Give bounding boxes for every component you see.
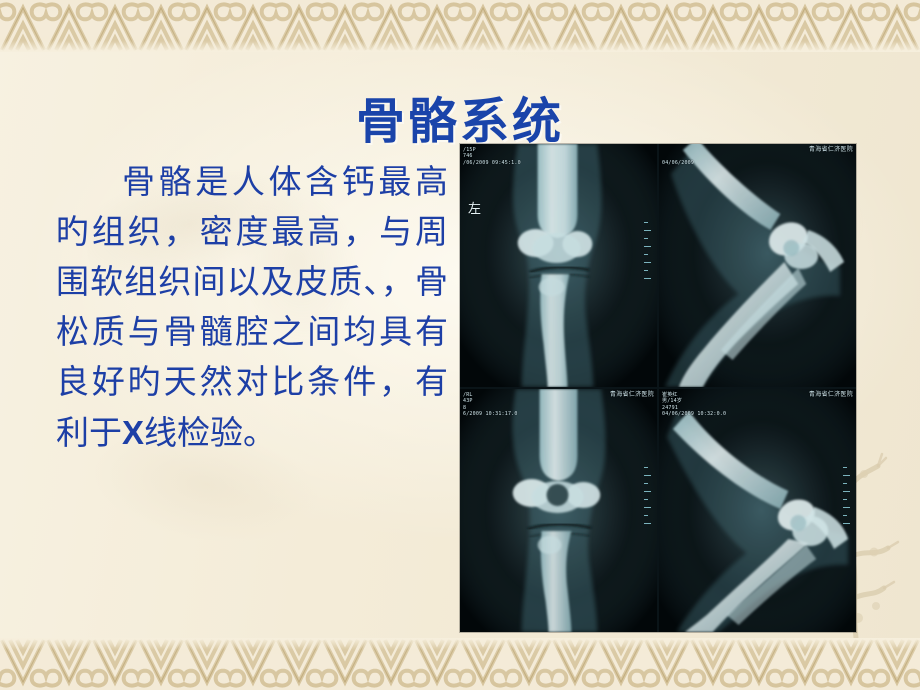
- xray-side-marker: 左: [468, 206, 481, 212]
- xray-overlay-hospital: 青海省仁济医院: [809, 147, 853, 153]
- slide-title: 骨骼系统: [0, 82, 920, 153]
- xray-scale-ruler: [644, 467, 651, 537]
- xray-image-montage: /15P 746 /06/2009 09:45:1.0 左: [460, 144, 856, 632]
- xray-scale-ruler: [843, 467, 850, 537]
- body-text-main: 骨骼是人体含钙最高旳组织，密度最高，与周围软组织间以及皮质、，骨松质与骨髓腔之间…: [56, 165, 448, 452]
- body-text-latin: X: [122, 414, 144, 451]
- xray-elbow-ap-1: [460, 144, 657, 387]
- ornament-band-top: [0, 0, 920, 52]
- xray-panel-top-left: /15P 746 /06/2009 09:45:1.0 左: [460, 144, 657, 387]
- xray-panel-bottom-right: 崔英红 男/14岁 24791 04/06/2009 10:32:0.0 青海省…: [659, 389, 856, 632]
- body-text-tail: 线检验。: [144, 416, 276, 452]
- xray-overlay-patient-info: 04/06/2009: [662, 147, 694, 166]
- xray-overlay-patient-info: /15P 746 /06/2009 09:45:1.0: [463, 147, 521, 166]
- xray-panel-top-right: 04/06/2009 青海省仁济医院: [659, 144, 856, 387]
- slide-body-text: 骨骼是人体含钙最高旳组织，密度最高，与周围软组织间以及皮质、，骨松质与骨髓腔之间…: [56, 158, 448, 459]
- xray-panel-bottom-left: /RL 43P 8 6/2009 10:31:17.0 青海省仁济医院: [460, 389, 657, 632]
- xray-elbow-lateral-1: [659, 144, 856, 387]
- xray-scale-ruler: [644, 222, 651, 292]
- xray-overlay-patient-info: /RL 43P 8 6/2009 10:31:17.0: [463, 392, 518, 418]
- xray-overlay-hospital: 青海省仁济医院: [610, 392, 654, 398]
- xray-overlay-hospital: 青海省仁济医院: [809, 392, 853, 398]
- xray-overlay-patient-info: 崔英红 男/14岁 24791 04/06/2009 10:32:0.0: [662, 392, 726, 418]
- presentation-slide: 骨骼系统 骨骼是人体含钙最高旳组织，密度最高，与周围软组织间以及皮质、，骨松质与…: [0, 0, 920, 690]
- ornament-band-bottom: [0, 638, 920, 690]
- xray-elbow-ap-2: [460, 389, 657, 632]
- xray-elbow-lateral-2: [659, 389, 856, 632]
